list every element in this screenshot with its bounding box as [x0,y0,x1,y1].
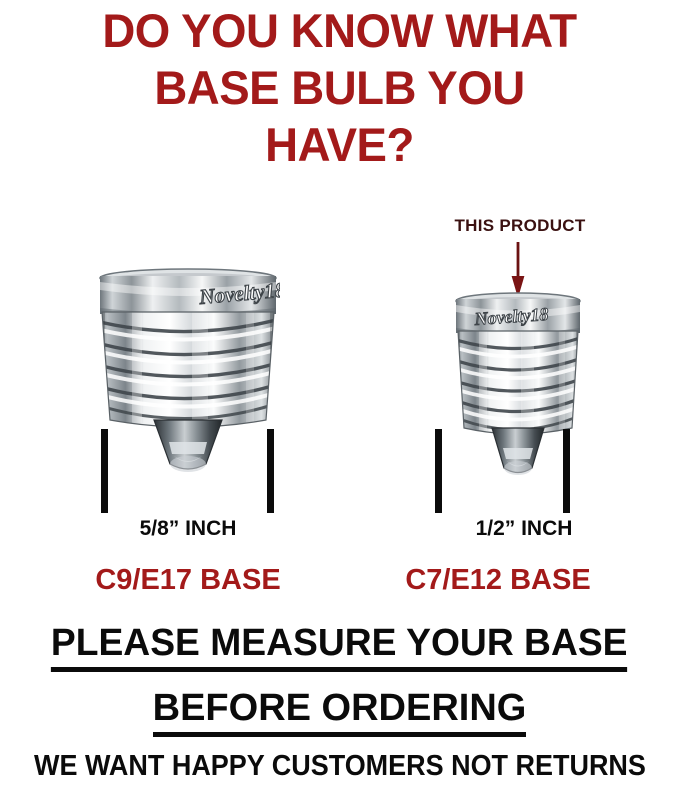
footer-line-2-text: BEFORE ORDERING [153,687,527,737]
measure-tick-right-start [435,429,442,513]
this-product-label: THIS PRODUCT [420,216,620,236]
footer-line-1: PLEASE MEASURE YOUR BASE [0,622,679,672]
headline-line-3: HAVE? [10,116,669,173]
footer-line-3-text: WE WANT HAPPY CUSTOMERS NOT RETURNS [34,750,646,783]
bulb-base-left: Novelty18 [96,268,280,494]
footer-line-3: WE WANT HAPPY CUSTOMERS NOT RETURNS [0,750,679,783]
down-arrow-icon [511,242,525,298]
base-label-right: C7/E12 BASE [366,564,630,597]
footer-line-1-text: PLEASE MEASURE YOUR BASE [51,622,628,672]
page-title: DO YOU KNOW WHAT BASE BULB YOU HAVE? [10,2,669,173]
product-infographic: DO YOU KNOW WHAT BASE BULB YOU HAVE? THI… [0,0,679,787]
measure-label-right: 1/2” INCH [424,517,624,541]
base-label-left: C9/E17 BASE [56,564,320,597]
headline-line-1: DO YOU KNOW WHAT [10,2,669,59]
headline-line-2: BASE BULB YOU [10,59,669,116]
measure-label-left: 5/8” INCH [88,517,288,541]
measure-tick-right-end [563,429,570,513]
measure-tick-left-end [267,429,274,513]
measure-tick-left-start [101,429,108,513]
footer-line-2: BEFORE ORDERING [0,687,679,737]
